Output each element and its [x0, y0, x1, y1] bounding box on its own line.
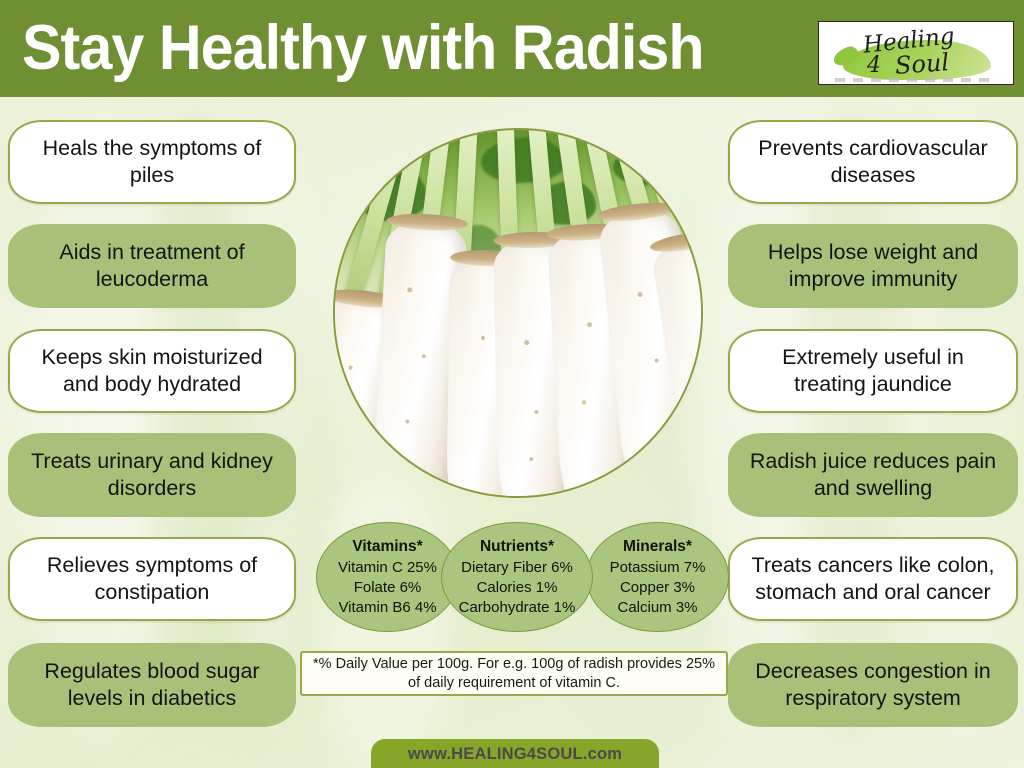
nutrient-title: Minerals*: [623, 537, 692, 557]
benefit-text: Aids in treatment of leucoderma: [22, 239, 282, 293]
daily-value-footnote: *% Daily Value per 100g. For e.g. 100g o…: [300, 651, 728, 696]
nutrient-line: Vitamin B6 4%: [338, 598, 436, 618]
benefit-pill-right-1[interactable]: Prevents cardiovascular diseases: [728, 120, 1018, 204]
leaf-blob: [481, 137, 565, 183]
radish-speck: [405, 419, 409, 423]
benefit-text: Prevents cardiovascular diseases: [744, 135, 1002, 189]
benefit-pill-right-2[interactable]: Helps lose weight and improve immunity: [728, 224, 1018, 308]
radish-speck: [482, 336, 486, 340]
nutrient-line: Calories 1%: [477, 578, 558, 598]
logo-underline: [835, 78, 995, 82]
radish-speck: [355, 417, 358, 420]
benefit-text: Radish juice reduces pain and swelling: [742, 448, 1004, 502]
nutrient-line: Vitamin C 25%: [338, 558, 437, 578]
radish-speck: [421, 354, 425, 358]
nutrient-line: Carbohydrate 1%: [459, 598, 576, 618]
benefit-pill-left-5[interactable]: Relieves symptoms of constipation: [8, 537, 296, 621]
benefit-text: Extremely useful in treating jaundice: [744, 344, 1002, 398]
radish-speck: [348, 366, 352, 370]
benefit-pill-left-6[interactable]: Regulates blood sugar levels in diabetic…: [8, 643, 296, 727]
benefit-text: Heals the symptoms of piles: [24, 135, 280, 189]
radish-photo: [333, 128, 703, 498]
radish-speck: [535, 410, 539, 414]
radish-speck: [407, 287, 412, 292]
nutrient-circle-nutrients[interactable]: Nutrients* Dietary Fiber 6% Calories 1% …: [441, 522, 593, 632]
logo-word-soul: Soul: [894, 48, 950, 80]
benefit-text: Keeps skin moisturized and body hydrated: [24, 344, 280, 398]
benefit-text: Decreases congestion in respiratory syst…: [742, 658, 1004, 712]
benefit-pill-right-3[interactable]: Extremely useful in treating jaundice: [728, 329, 1018, 413]
page-title: Stay Healthy with Radish: [22, 8, 704, 88]
benefit-pill-left-1[interactable]: Heals the symptoms of piles: [8, 120, 296, 204]
radish-speck: [638, 291, 643, 296]
benefit-pill-right-4[interactable]: Radish juice reduces pain and swelling: [728, 433, 1018, 517]
nutrient-title: Nutrients*: [480, 537, 554, 557]
footnote-text: *% Daily Value per 100g. For e.g. 100g o…: [310, 655, 718, 693]
benefit-text: Helps lose weight and improve immunity: [742, 239, 1004, 293]
infographic-poster: Stay Healthy with Radish Healing 4 Soul …: [0, 0, 1024, 768]
radish-speck: [524, 339, 529, 344]
benefit-text: Treats cancers like colon, stomach and o…: [744, 552, 1002, 606]
nutrient-circle-vitamins[interactable]: Vitamins* Vitamin C 25% Folate 6% Vitami…: [316, 522, 459, 632]
nutrient-line: Folate 6%: [354, 578, 422, 598]
nutrient-line: Dietary Fiber 6%: [461, 558, 573, 578]
radish-speck: [582, 401, 586, 405]
brand-logo[interactable]: Healing 4 Soul: [818, 21, 1014, 85]
radish-speck: [654, 358, 658, 362]
benefit-pill-left-3[interactable]: Keeps skin moisturized and body hydrated: [8, 329, 296, 413]
radish-speck: [530, 456, 534, 460]
benefit-text: Relieves symptoms of constipation: [24, 552, 280, 606]
benefit-pill-right-5[interactable]: Treats cancers like colon, stomach and o…: [728, 537, 1018, 621]
site-footer-url[interactable]: www.HEALING4SOUL.com: [371, 739, 659, 768]
benefit-pill-right-6[interactable]: Decreases congestion in respiratory syst…: [728, 643, 1018, 727]
nutrient-circle-minerals[interactable]: Minerals* Potassium 7% Copper 3% Calcium…: [586, 522, 729, 632]
radish-speck: [587, 322, 592, 327]
logo-word-four: 4: [867, 53, 881, 78]
nutrient-line: Calcium 3%: [617, 598, 697, 618]
benefit-text: Treats urinary and kidney disorders: [22, 448, 282, 502]
benefit-pill-left-4[interactable]: Treats urinary and kidney disorders: [8, 433, 296, 517]
nutrient-title: Vitamins*: [352, 537, 422, 557]
benefit-pill-left-2[interactable]: Aids in treatment of leucoderma: [8, 224, 296, 308]
nutrient-line: Potassium 7%: [610, 558, 706, 578]
nutrient-line: Copper 3%: [620, 578, 695, 598]
benefit-text: Regulates blood sugar levels in diabetic…: [22, 658, 282, 712]
footer-url-text: www.HEALING4SOUL.com: [408, 745, 622, 764]
